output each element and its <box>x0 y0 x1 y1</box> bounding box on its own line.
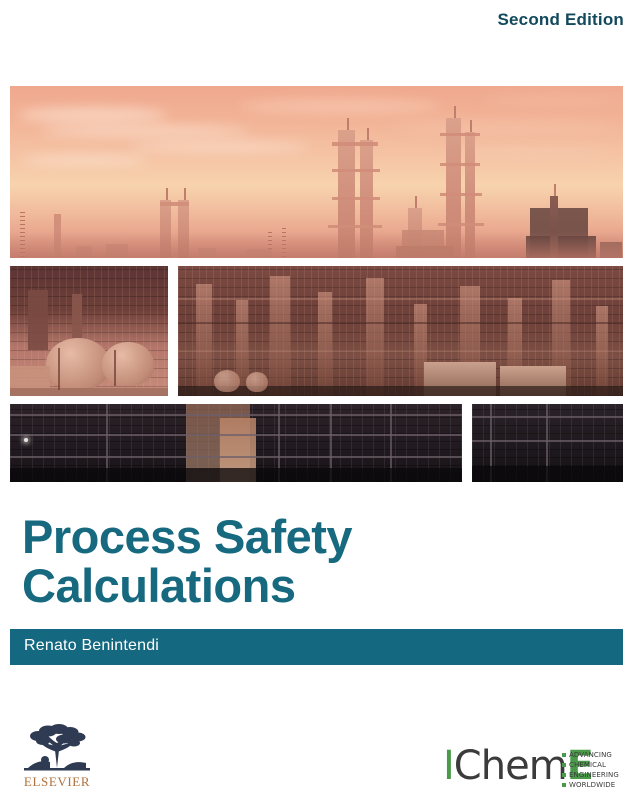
author-band: Renato Benintendi <box>10 629 623 665</box>
photo-process-plant-night-small <box>472 404 623 482</box>
tagline-line: WORLDWIDE <box>569 781 615 789</box>
tagline-line: ENGINEERING <box>569 771 619 779</box>
icheme-letter-i: I <box>443 743 454 789</box>
photo-refinery-at-sunset <box>10 86 623 258</box>
green-square-icon <box>562 753 566 757</box>
tagline-row: ADVANCING <box>562 750 630 759</box>
tagline-row: CHEMICAL <box>562 760 630 769</box>
elsevier-wordmark: ELSEVIER <box>14 774 100 790</box>
edition-label: Second Edition <box>497 10 624 30</box>
photo-process-plant-night-wide <box>10 404 462 482</box>
cover-image-collage <box>10 86 623 482</box>
tagline-line: CHEMICAL <box>569 761 606 769</box>
green-square-icon <box>562 783 566 787</box>
green-square-icon <box>562 773 566 777</box>
tagline-row: ENGINEERING <box>562 770 630 779</box>
photo-refinery-piping-complex <box>178 266 623 396</box>
elsevier-logo: ELSEVIER <box>14 722 100 792</box>
photo-spherical-storage-tanks <box>10 266 168 396</box>
icheme-tagline: ADVANCING CHEMICAL ENGINEERING WORLDWIDE <box>562 750 630 790</box>
elsevier-tree-icon <box>14 722 100 772</box>
icheme-letters-chem: Chem <box>454 743 567 789</box>
tagline-line: ADVANCING <box>569 751 612 759</box>
author-name: Renato Benintendi <box>24 637 159 655</box>
book-cover: Second Edition <box>0 0 638 800</box>
book-title: Process Safety Calculations <box>22 512 622 611</box>
icheme-logo: IChemE ADVANCING CHEMICAL ENGINEERING WO… <box>443 746 629 792</box>
tagline-row: WORLDWIDE <box>562 780 630 789</box>
green-square-icon <box>562 763 566 767</box>
